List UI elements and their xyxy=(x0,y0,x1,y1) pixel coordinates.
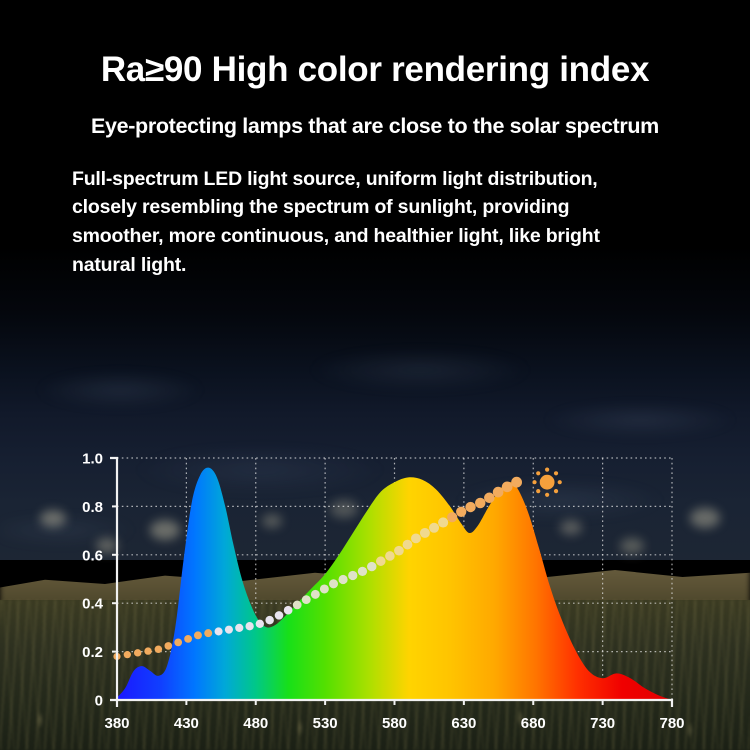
solar-reference-dot xyxy=(293,601,302,610)
spectrum-area-series xyxy=(0,430,750,750)
sun-icon-ray xyxy=(558,480,562,484)
x-axis-tick-label: 630 xyxy=(451,715,476,732)
solar-reference-dot xyxy=(124,651,131,658)
spectrum-chart-svg: 00.20.40.60.81.0 38043048053058063068073… xyxy=(0,430,750,750)
sun-icon-ray xyxy=(536,471,540,475)
x-axis-tick-label: 680 xyxy=(521,715,546,732)
solar-reference-dot xyxy=(235,624,243,632)
x-axis-tick-label: 430 xyxy=(174,715,199,732)
solar-reference-dot xyxy=(411,533,421,543)
solar-reference-dot xyxy=(215,627,223,635)
solar-reference-dot xyxy=(311,590,320,599)
y-axis-tick-labels: 00.20.40.60.81.0 xyxy=(82,451,104,710)
solar-reference-dot xyxy=(155,645,163,653)
solar-reference-dot xyxy=(256,620,264,628)
solar-reference-dot xyxy=(493,487,504,498)
solar-reference-dot xyxy=(348,571,357,580)
solar-reference-dot xyxy=(144,647,151,654)
y-axis-tick-label: 1.0 xyxy=(82,451,103,468)
solar-reference-dot xyxy=(245,622,253,630)
solar-reference-dot xyxy=(174,639,182,647)
y-axis-tick-label: 0.4 xyxy=(82,596,104,613)
page-subtitle: Eye-protecting lamps that are close to t… xyxy=(0,114,750,139)
solar-reference-dot xyxy=(511,477,522,488)
solar-reference-dot xyxy=(456,507,466,517)
solar-reference-dot xyxy=(502,481,513,492)
y-axis-spine xyxy=(110,458,117,700)
solar-reference-dot xyxy=(358,567,367,576)
solar-reference-dot xyxy=(284,606,293,615)
solar-reference-dot xyxy=(465,502,475,512)
x-axis-tick-label: 480 xyxy=(243,715,268,732)
body-paragraph: Full-spectrum LED light source, uniform … xyxy=(72,165,658,280)
spectrum-area-fill xyxy=(0,430,750,750)
solar-reference-dot xyxy=(447,512,457,522)
sun-icon xyxy=(532,468,561,497)
sun-icon-ray xyxy=(545,493,549,497)
solar-reference-dot xyxy=(204,629,212,637)
y-axis-tick-label: 0.8 xyxy=(82,499,103,516)
solar-reference-dot xyxy=(134,649,141,656)
solar-reference-dot xyxy=(320,584,329,593)
solar-reference-dot xyxy=(367,562,376,571)
solar-reference-dot xyxy=(338,575,347,584)
solar-reference-dot xyxy=(329,579,338,588)
spectrum-chart: 00.20.40.60.81.0 38043048053058063068073… xyxy=(0,430,750,750)
solar-reference-dot xyxy=(275,611,284,620)
x-axis-tick-label: 780 xyxy=(659,715,684,732)
solar-reference-dot xyxy=(184,635,192,643)
y-axis-tick-label: 0.6 xyxy=(82,547,103,564)
solar-reference-dot xyxy=(225,626,233,634)
x-axis-tick-label: 730 xyxy=(590,715,615,732)
solar-reference-dot xyxy=(385,551,395,561)
y-axis-tick-label: 0 xyxy=(95,693,103,710)
x-axis-tick-labels: 380430480530580630680730780 xyxy=(104,715,684,732)
sun-icon-ray xyxy=(554,471,558,475)
page-title: Ra≥90 High color rendering index xyxy=(0,52,750,89)
marketing-copy-block: Ra≥90 High color rendering index Eye-pro… xyxy=(0,0,750,279)
x-axis-tick-label: 530 xyxy=(313,715,338,732)
solar-reference-dot xyxy=(429,523,439,533)
solar-reference-dot xyxy=(265,616,273,624)
solar-reference-dot xyxy=(394,546,404,556)
sun-icon-ray xyxy=(554,489,558,493)
solar-reference-dot xyxy=(376,556,386,566)
solar-reference-dot xyxy=(403,540,413,550)
x-axis-tick-label: 380 xyxy=(104,715,129,732)
x-axis-tick-label: 580 xyxy=(382,715,407,732)
y-axis-tick-label: 0.2 xyxy=(82,644,103,661)
solar-reference-dot xyxy=(420,528,430,538)
sun-icon-ray xyxy=(532,480,536,484)
sun-icon-core xyxy=(540,475,555,490)
solar-reference-dot xyxy=(164,642,172,650)
solar-reference-dot xyxy=(194,631,202,639)
sun-icon-ray xyxy=(545,468,549,472)
sun-icon-ray xyxy=(536,489,540,493)
solar-reference-dot xyxy=(475,498,485,508)
solar-reference-dot xyxy=(302,595,311,604)
solar-reference-dot xyxy=(438,517,448,527)
solar-reference-dot xyxy=(484,493,495,504)
